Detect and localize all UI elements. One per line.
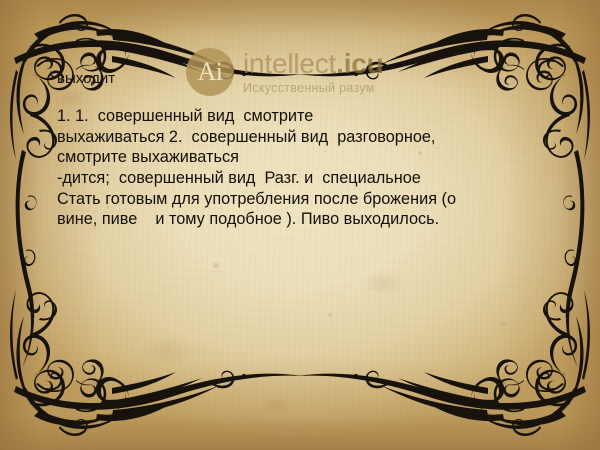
- entry-line: -дится; совершенный вид Разг. и специаль…: [57, 168, 545, 189]
- corner-flourish-bottom-left: [10, 290, 178, 436]
- entry-line: вине, пиве и тому подобное ). Пиво выход…: [57, 209, 545, 230]
- dictionary-entry: 1. 1. совершенный вид смотрите выхаживат…: [57, 106, 545, 230]
- entry-line: смотрите выхаживаться: [57, 147, 545, 168]
- corner-flourish-bottom-right: [422, 290, 590, 436]
- entry-line: 1. 1. совершенный вид смотрите: [57, 106, 545, 127]
- parchment-card: Ai intellect.icu Искусственный разум вых…: [0, 0, 600, 450]
- entry-line: выхаживаться 2. совершенный вид разговор…: [57, 127, 545, 148]
- entry-line: Стать готовым для употребления после бро…: [57, 189, 545, 210]
- headword: выходит: [57, 70, 115, 88]
